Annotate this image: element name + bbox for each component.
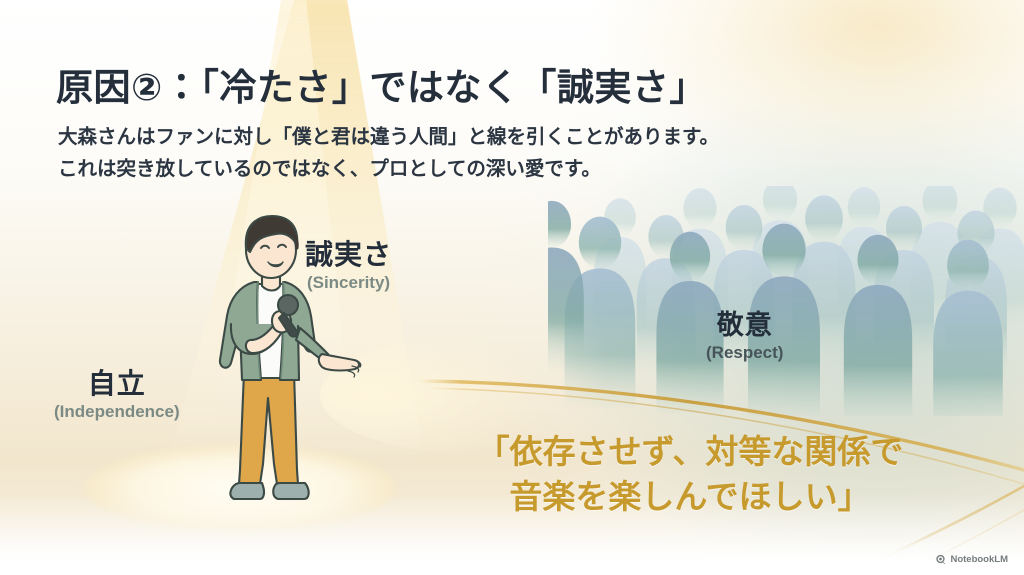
notebooklm-logo-icon (935, 554, 946, 565)
notebooklm-watermark-label: NotebookLM (950, 554, 1008, 565)
label-sincerity-en: (Sincerity) (305, 272, 392, 295)
label-sincerity: 誠実さ (Sincerity) (305, 239, 392, 295)
label-respect: 敬意 (Respect) (706, 310, 783, 365)
quote-line-1: 「依存させず、対等な関係で (440, 430, 940, 475)
label-respect-en: (Respect) (706, 342, 783, 365)
label-sincerity-jp: 誠実さ (305, 239, 392, 271)
slide-canvas: 原因②：「冷たさ」ではなく「誠実さ」 大森さんはファンに対し「僕と君は違う人間」… (0, 0, 1024, 575)
label-respect-jp: 敬意 (706, 310, 783, 341)
label-independence: 自立 (Independence) (54, 368, 180, 424)
quote-line-2: 音楽を楽しんでほしい」 (440, 475, 940, 520)
notebooklm-watermark: NotebookLM (935, 554, 1008, 565)
subtitle-block: 大森さんはファンに対し「僕と君は違う人間」と線を引くことがあります。 これは突き… (58, 122, 719, 185)
label-independence-jp: 自立 (54, 368, 180, 400)
label-independence-en: (Independence) (54, 401, 180, 424)
quote-block: 「依存させず、対等な関係で 音楽を楽しんでほしい」 (440, 430, 940, 520)
audience-silhouettes-illustration (548, 186, 1024, 416)
page-title: 原因②：「冷たさ」ではなく「誠実さ」 (56, 57, 707, 111)
subtitle-line-2: これは突き放しているのではなく、プロとしての深い愛です。 (58, 154, 719, 186)
subtitle-line-1: 大森さんはファンに対し「僕と君は違う人間」と線を引くことがあります。 (58, 122, 719, 154)
